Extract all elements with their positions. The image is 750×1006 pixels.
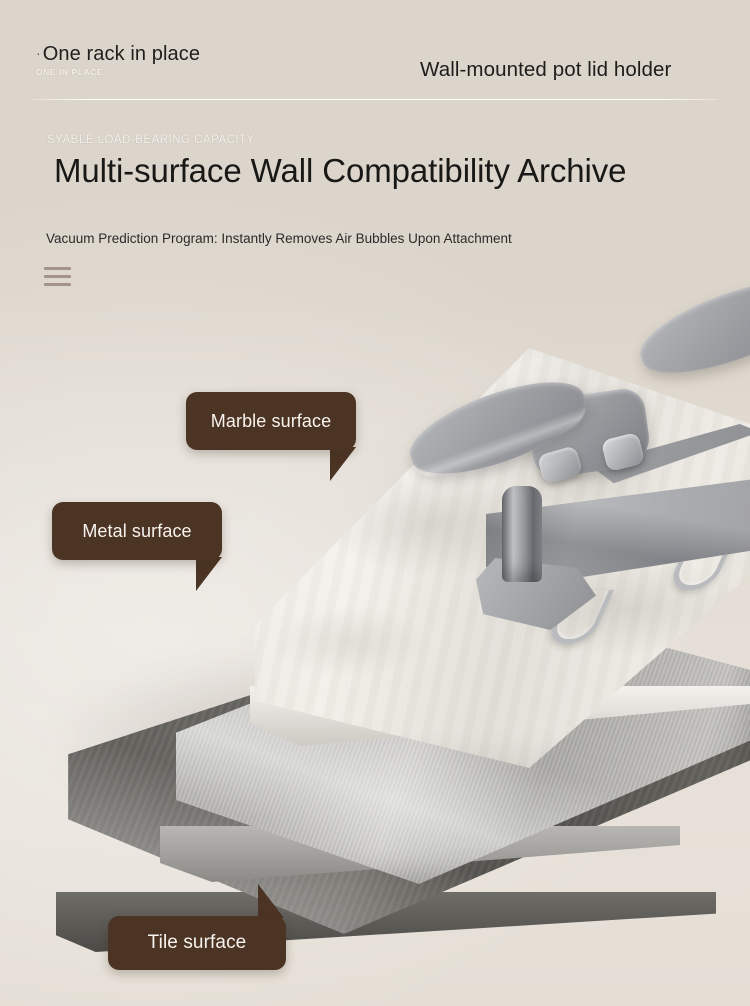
callout-tile-surface[interactable]: Tile surface: [108, 916, 286, 970]
eyebrow-block: ·One rack in place ONE IN PLACE: [36, 43, 200, 77]
callout-marble-label: Marble surface: [211, 411, 331, 432]
header: ·One rack in place ONE IN PLACE Wall-mou…: [0, 0, 750, 300]
callout-marble-surface[interactable]: Marble surface: [186, 392, 356, 450]
page-title: Multi-surface Wall Compatibility Archive: [54, 148, 694, 195]
page-subtitle: Vacuum Prediction Program: Instantly Rem…: [46, 231, 512, 246]
product-infographic-page: ·One rack in place ONE IN PLACE Wall-mou…: [0, 0, 750, 1006]
product-photo-stage: [0, 286, 750, 1006]
hamburger-menu-icon[interactable]: [44, 267, 71, 286]
hamburger-bar-2: [44, 275, 71, 278]
callout-tail-marble: [330, 447, 356, 481]
section-kicker: SYABLE LOAD-BEARING CAPACITY: [47, 134, 255, 146]
bullet-dot: ·: [36, 45, 41, 61]
header-divider: [32, 99, 718, 100]
product-name-title: Wall-mounted pot lid holder: [420, 58, 671, 82]
callout-metal-label: Metal surface: [82, 521, 191, 542]
hamburger-bar-1: [44, 267, 71, 270]
eyebrow-title-text: One rack in place: [43, 43, 200, 65]
callout-tail-metal: [196, 557, 222, 591]
pot-lid-holder-product: [0, 286, 750, 1006]
callout-metal-surface[interactable]: Metal surface: [52, 502, 222, 560]
holder-post: [502, 486, 542, 582]
eyebrow-title: ·One rack in place: [36, 43, 200, 66]
eyebrow-subtitle: ONE IN PLACE: [36, 67, 200, 77]
callout-tail-tile: [258, 884, 284, 918]
callout-tile-label: Tile surface: [148, 932, 247, 954]
